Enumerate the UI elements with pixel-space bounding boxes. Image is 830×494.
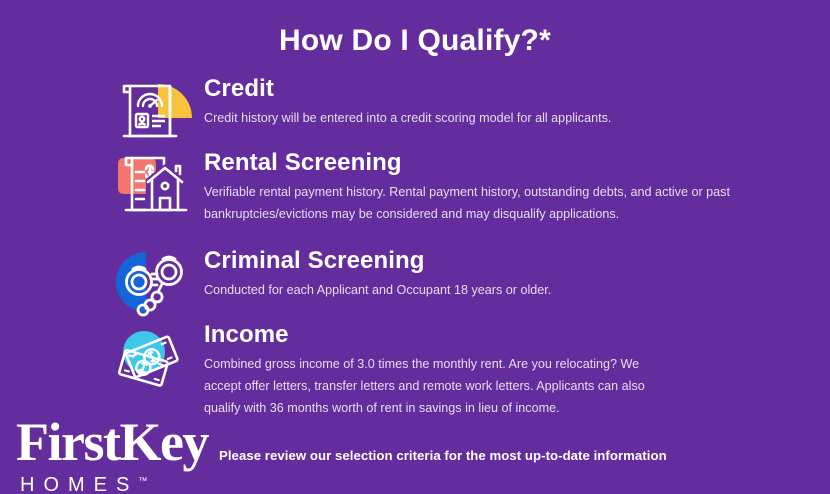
section-body: Credit Credit history will be entered in… bbox=[204, 76, 812, 130]
section-heading-credit: Credit bbox=[204, 76, 812, 101]
section-credit: Credit Credit history will be entered in… bbox=[112, 76, 812, 130]
section-rental-screening: Rental Screening Verifiable rental payme… bbox=[112, 150, 812, 226]
credit-report-icon bbox=[112, 76, 192, 148]
firstkey-homes-logo: FirstKey HOMES™ bbox=[16, 415, 276, 494]
cash-money-icon bbox=[112, 322, 192, 394]
section-text-credit: Credit history will be entered into a cr… bbox=[204, 108, 744, 130]
trademark-icon: ™ bbox=[138, 475, 147, 485]
footer-disclaimer: Please review our selection criteria for… bbox=[219, 448, 667, 463]
section-income: Income Combined gross income of 3.0 time… bbox=[112, 322, 812, 419]
section-heading-criminal-screening: Criminal Screening bbox=[204, 248, 812, 273]
page-title: How Do I Qualify?* bbox=[0, 24, 830, 58]
section-body: Criminal Screening Conducted for each Ap… bbox=[204, 248, 812, 302]
section-text-income: Combined gross income of 3.0 times the m… bbox=[204, 354, 674, 419]
section-text-rental-screening: Verifiable rental payment history. Renta… bbox=[204, 182, 744, 225]
logo-wordmark: FirstKey bbox=[16, 415, 208, 469]
logo-subtext-label: HOMES bbox=[20, 474, 138, 494]
qualification-criteria-slide: How Do I Qualify?* bbox=[0, 0, 830, 494]
rent-receipt-house-icon bbox=[112, 150, 192, 222]
section-body: Rental Screening Verifiable rental payme… bbox=[204, 150, 812, 226]
logo-subtext: HOMES™ bbox=[20, 475, 147, 494]
section-body: Income Combined gross income of 3.0 time… bbox=[204, 322, 812, 419]
section-heading-rental-screening: Rental Screening bbox=[204, 150, 812, 175]
section-heading-income: Income bbox=[204, 322, 812, 347]
handcuffs-icon bbox=[112, 248, 192, 320]
section-text-criminal-screening: Conducted for each Applicant and Occupan… bbox=[204, 280, 744, 302]
section-criminal-screening: Criminal Screening Conducted for each Ap… bbox=[112, 248, 812, 302]
